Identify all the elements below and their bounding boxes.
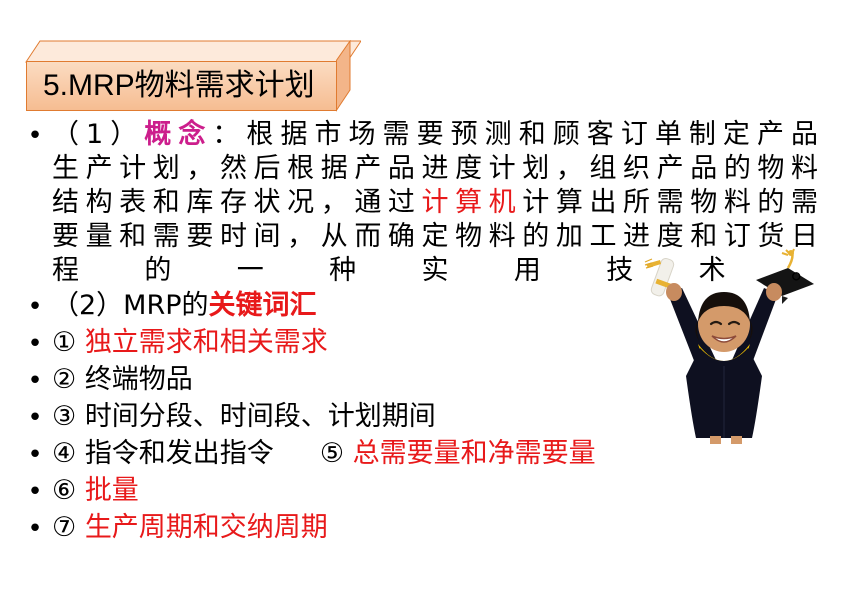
slide-title-box: 5.MRP物料需求计划 (16, 40, 361, 112)
bullet-marker: • (18, 363, 52, 399)
concept-line1-tail: ：根据市场需要预测和顾客订单制定产品 (212, 119, 818, 150)
list-item: • ⑥ 批量 (18, 474, 818, 510)
bullet-marker: • (18, 511, 52, 547)
keywords-highlight: 关键词汇 (209, 290, 317, 321)
bullet-keywords: （2）MRP的关键词汇 (52, 289, 818, 323)
slide-canvas: 5.MRP物料需求计划 (0, 0, 843, 616)
list-item: • ② 终端物品 (18, 363, 818, 399)
list-item: • （2）MRP的关键词汇 (18, 289, 818, 325)
bullet-marker: • (18, 118, 52, 154)
bullet-paragraph-concept: （1）概念：根据市场需要预测和顾客订单制定产品 生产计划，然后根据产品进度计划，… (52, 118, 818, 288)
bullet-item-1: ① 独立需求和相关需求 (52, 326, 818, 360)
bullet-marker: • (18, 474, 52, 510)
concept-line2: 生产计划，然后根据产品进度计划，组织产品的物料 (52, 153, 818, 184)
title-box-front-face: 5.MRP物料需求计划 (26, 61, 337, 111)
concept-line5: 程的一种实用技术。 (52, 255, 818, 286)
concept-keyword: 概念 (144, 119, 212, 150)
list-item: • ④ 指令和发出指令⑤ 总需要量和净需要量 (18, 437, 818, 473)
concept-prefix: （1） (52, 119, 144, 150)
item-text: 终端物品 (85, 364, 193, 395)
item-number: ② (52, 364, 76, 395)
bullet-item-3: ③ 时间分段、时间段、计划期间 (52, 400, 818, 434)
bullet-marker: • (18, 437, 52, 473)
page-title: 5.MRP物料需求计划 (43, 71, 315, 101)
item-number: ⑥ (52, 475, 76, 506)
bullet-marker: • (18, 400, 52, 436)
list-item: • ③ 时间分段、时间段、计划期间 (18, 400, 818, 436)
list-item: • ① 独立需求和相关需求 (18, 326, 818, 362)
title-box-top-face (16, 40, 361, 62)
item-text: 批量 (85, 475, 139, 506)
concept-line4: 要量和需要时间，从而确定物料的加工进度和订货日 (52, 221, 818, 252)
item-number-secondary: ⑤ (320, 438, 344, 469)
bullet-item-4-and-5: ④ 指令和发出指令⑤ 总需要量和净需要量 (52, 437, 818, 471)
item-number: ① (52, 327, 76, 358)
concept-line3-a: 结构表和库存状况，通过 (52, 187, 422, 218)
concept-inline-red: 计算机 (422, 187, 523, 218)
title-box-right-face (336, 40, 361, 112)
item-text-secondary: 总需要量和净需要量 (353, 438, 596, 469)
item-text: 独立需求和相关需求 (85, 327, 328, 358)
item-number: ③ (52, 401, 76, 432)
item-text: 生产周期和交纳周期 (85, 512, 328, 543)
concept-line3-b: 计算出所需物料的需 (522, 187, 818, 218)
item-number: ④ (52, 438, 76, 469)
bullet-item-2: ② 终端物品 (52, 363, 818, 397)
bullet-item-6: ⑥ 批量 (52, 474, 818, 508)
bullet-marker: • (18, 326, 52, 362)
bullet-list: • （1）概念：根据市场需要预测和顾客订单制定产品 生产计划，然后根据产品进度计… (18, 118, 818, 548)
keywords-prefix: （2）MRP的 (52, 290, 209, 321)
item-text: 时间分段、时间段、计划期间 (85, 401, 436, 432)
bullet-item-7: ⑦ 生产周期和交纳周期 (52, 511, 818, 545)
list-item: • ⑦ 生产周期和交纳周期 (18, 511, 818, 547)
item-number: ⑦ (52, 512, 76, 543)
item-text: 指令和发出指令 (85, 438, 274, 469)
list-item: • （1）概念：根据市场需要预测和顾客订单制定产品 生产计划，然后根据产品进度计… (18, 118, 818, 288)
bullet-marker: • (18, 289, 52, 325)
